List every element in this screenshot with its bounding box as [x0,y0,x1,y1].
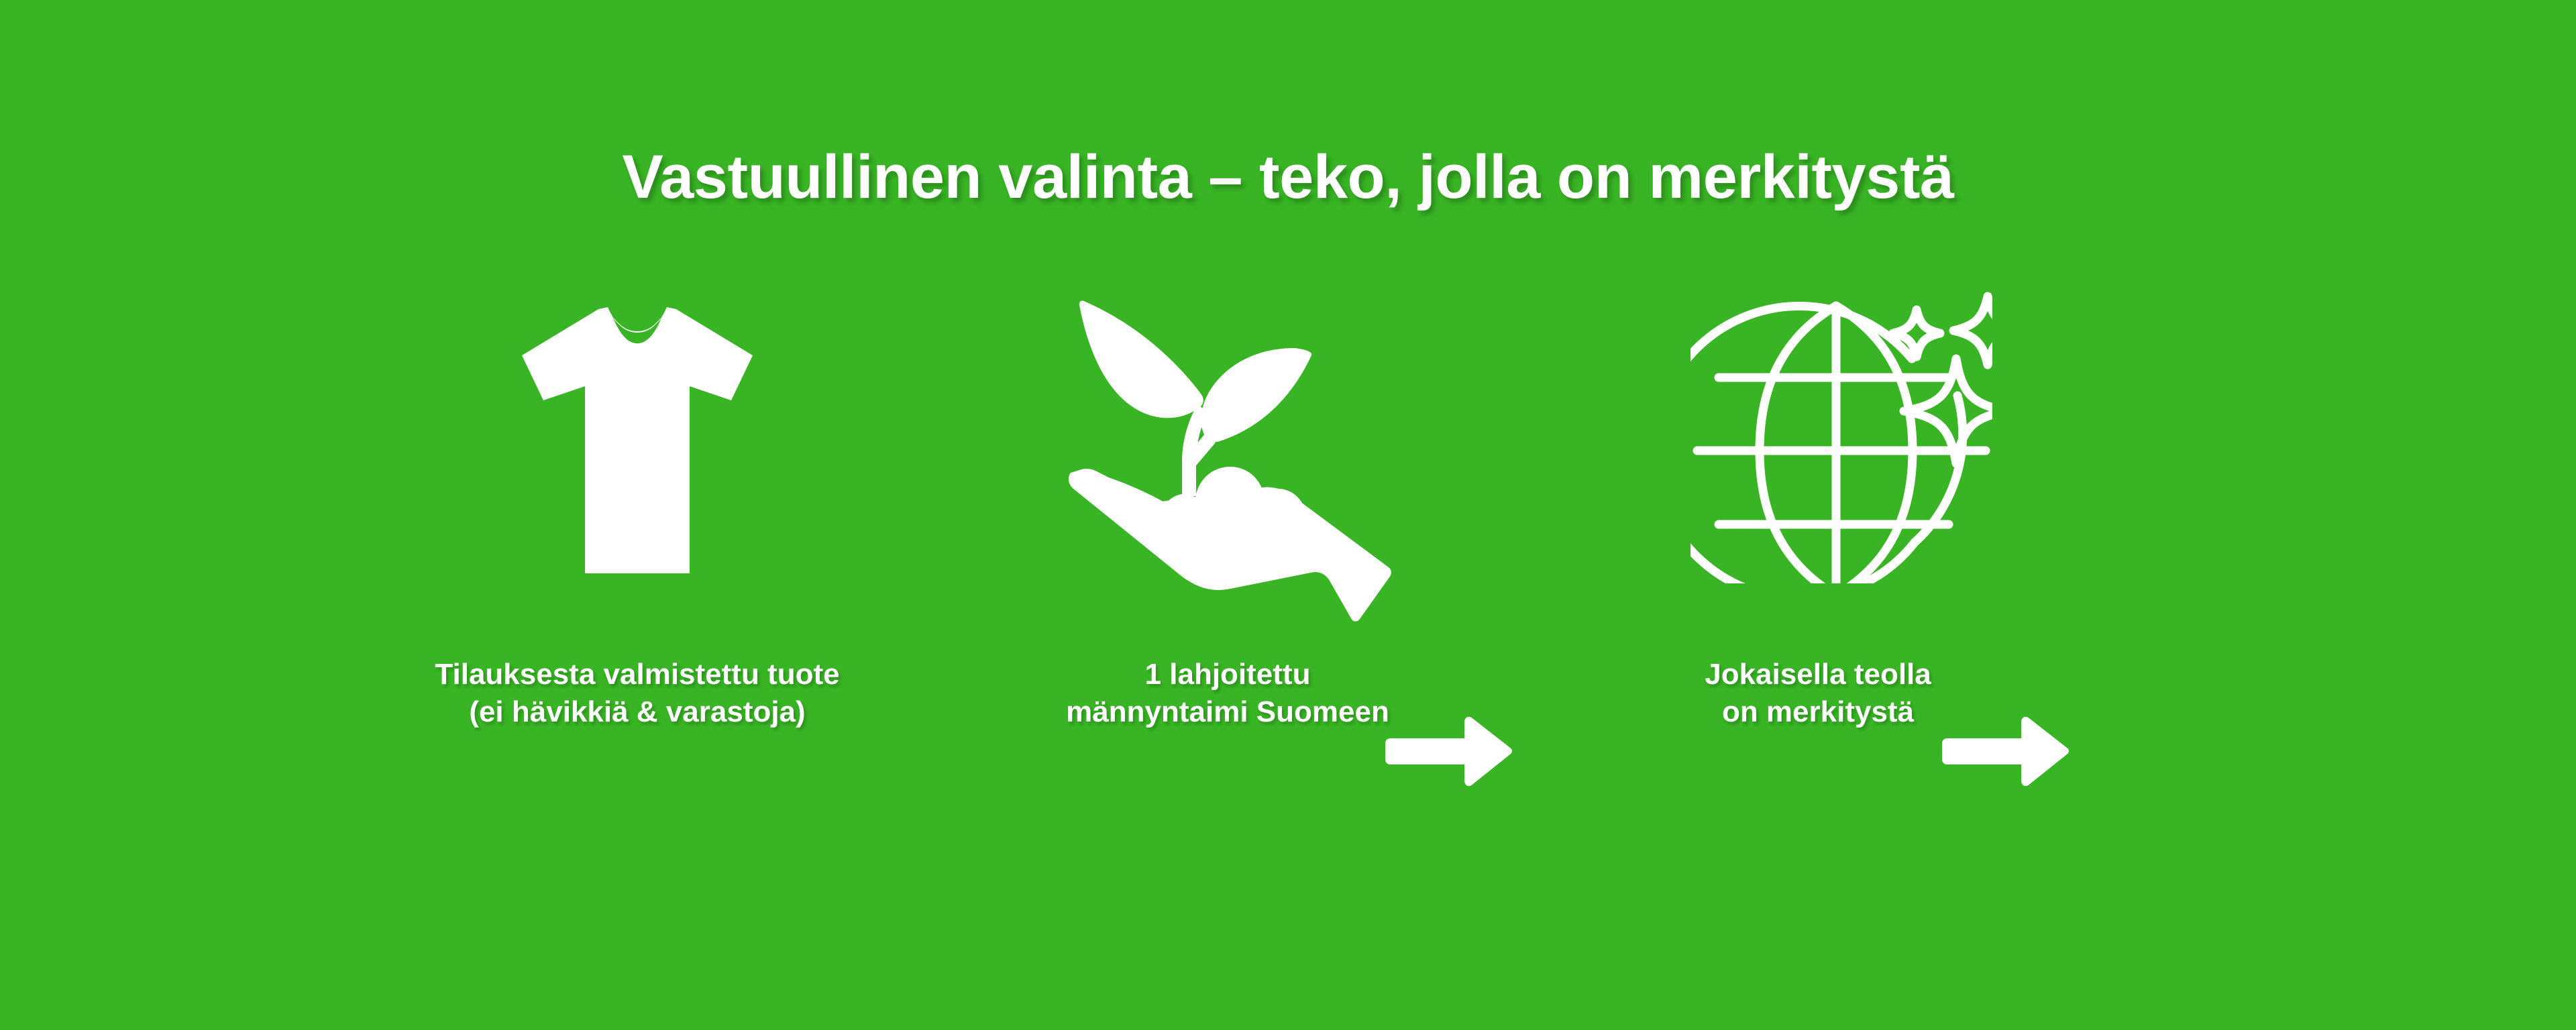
step-1-icon-box [429,268,845,634]
step-1-caption: Tilauksesta valmistettu tuote (ei hävikk… [349,656,926,732]
hand-holding-sprout-icon [1067,295,1395,630]
arrow-right-icon-1 [1385,716,1513,787]
step-1-caption-line-1: Tilauksesta valmistettu tuote [349,656,926,693]
step-3-caption-line-1: Jokaisella teolla [1529,656,2106,693]
step-3-icon-box [1610,268,2026,634]
arrow-right-icon-2 [1942,716,2070,787]
step-donated-pine-seedling: 1 lahjoitettu männyntaimi Suomeen [1020,268,1436,738]
sustainability-banner: Vastuullinen valinta – teko, jolla on me… [0,0,2576,1030]
steps-row: Tilauksesta valmistettu tuote (ei hävikk… [429,268,2147,738]
step-1-caption-line-2: (ei hävikkiä & varastoja) [349,693,926,731]
step-every-act-matters: Jokaisella teolla on merkitystä [1610,268,2026,738]
tshirt-icon [517,304,758,576]
step-2-icon-box [1020,268,1436,634]
step-made-to-order: Tilauksesta valmistettu tuote (ei hävikk… [429,268,845,738]
globe-sparkle-icon [1690,275,1992,583]
step-2-caption-line-1: 1 lahjoitettu [939,656,1516,693]
banner-title: Vastuullinen valinta – teko, jolla on me… [0,142,2576,213]
